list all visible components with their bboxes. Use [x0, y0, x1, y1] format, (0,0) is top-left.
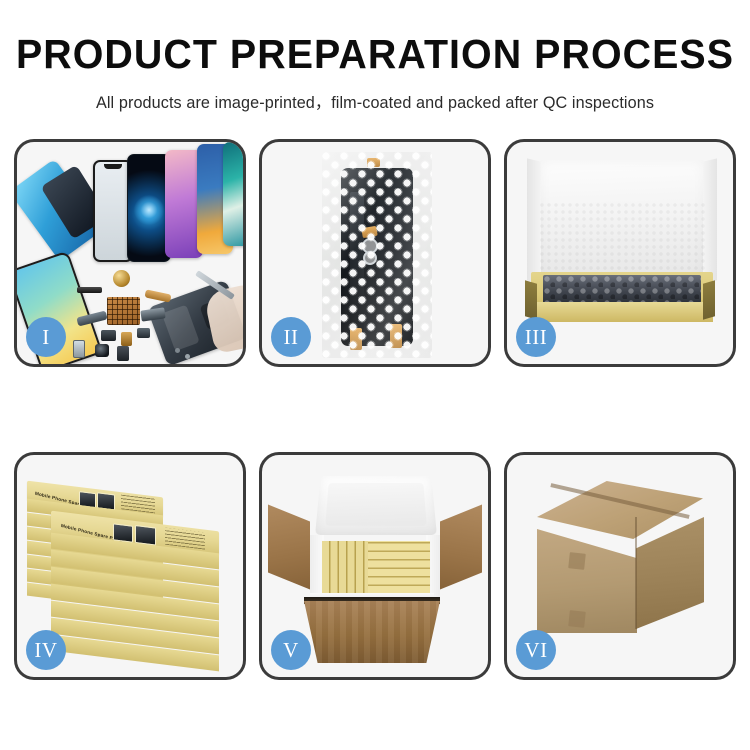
chip-part-icon [101, 330, 116, 341]
battery-connector-icon [117, 346, 129, 361]
process-step-grid: I II [14, 139, 736, 735]
foam-cooler-lid-icon [315, 476, 437, 535]
carton-tape-patch-icon [568, 552, 586, 570]
module-part-icon [137, 328, 150, 338]
step-badge-2: II [271, 317, 311, 357]
step-badge-1: I [26, 317, 66, 357]
sealed-carton-right-face [636, 517, 704, 629]
phone-teal-icon [223, 142, 243, 246]
carton-right-flap-icon [440, 505, 482, 590]
sim-tray-part-icon [73, 340, 85, 358]
copper-mesh-part-icon [107, 297, 140, 325]
process-step-panel-6: VI [504, 452, 736, 680]
carton-body-icon [304, 601, 440, 663]
step-badge-6: VI [516, 630, 556, 670]
yellow-box-left-flap [525, 280, 537, 319]
bubble-wrap-contents-icon [543, 275, 701, 305]
screw-part-icon [185, 354, 190, 359]
carton-vertical-edge [635, 517, 637, 629]
carton-texture-overlay [304, 601, 440, 663]
process-step-panel-3: III [504, 139, 736, 367]
process-step-panel-4: Mobile Phone Spare Parts Mobile Phone Sp… [14, 452, 246, 680]
yellow-box-front-panel [531, 302, 713, 322]
page-title: PRODUCT PREPARATION PROCESS [15, 34, 735, 75]
sealed-carton-left-face [537, 529, 637, 633]
process-step-panel-5: V [259, 452, 491, 680]
carton-left-flap-icon [268, 505, 310, 590]
gold-flex-part-icon [144, 289, 171, 302]
phone-tilted-blue-icon [17, 159, 105, 261]
camera-module-icon [95, 344, 109, 357]
page-header: PRODUCT PREPARATION PROCESS All products… [0, 0, 750, 113]
yellow-boxes-inside-icon [322, 541, 430, 593]
step-badge-4: IV [26, 630, 66, 670]
page-subtitle: All products are image-printed，film-coat… [0, 89, 750, 113]
process-step-panel-2: II [259, 139, 491, 367]
carton-tape-patch-icon [568, 610, 586, 628]
step-badge-5: V [271, 630, 311, 670]
screw-part-icon [175, 348, 180, 353]
foam-texture-overlay [539, 202, 705, 282]
gold-chip-part-icon [121, 332, 132, 346]
process-step-panel-1: I [14, 139, 246, 367]
bubble-wrapped-package [322, 152, 432, 358]
plastic-sheen-overlay [322, 152, 432, 358]
yellow-box-right-flap [703, 280, 715, 319]
bubble-texture-overlay [543, 275, 701, 305]
speaker-disc-part-icon [113, 270, 130, 287]
earpiece-bar-part-icon [77, 287, 102, 293]
step-badge-3: III [516, 317, 556, 357]
box-spec-lines [165, 528, 205, 550]
